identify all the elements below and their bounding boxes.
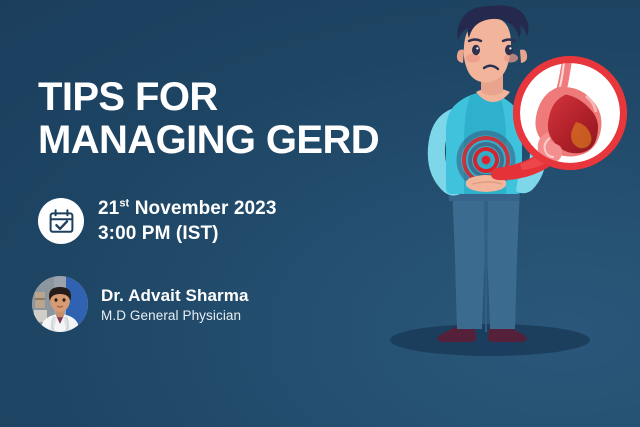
schedule-time: 3:00 PM (IST) <box>98 221 277 246</box>
blue-trousers <box>448 182 520 332</box>
schedule-text: 21st November 2023 3:00 PM (IST) <box>98 196 277 247</box>
man-with-stomach-pain-illustration <box>380 0 640 427</box>
stomach-magnifier-circle <box>513 56 627 170</box>
speaker-block: Dr. Advait Sharma M.D General Physician <box>32 276 249 332</box>
schedule-day: 21 <box>98 198 119 219</box>
speaker-text: Dr. Advait Sharma M.D General Physician <box>101 284 249 325</box>
doctor-portrait-photo <box>32 276 88 332</box>
illustration-svg <box>380 0 640 427</box>
headline-block: TIPS FOR MANAGING GERD <box>38 76 408 162</box>
avatar <box>32 276 88 332</box>
schedule-date: 21st November 2023 <box>98 196 277 221</box>
page-title: TIPS FOR MANAGING GERD <box>38 76 408 162</box>
calendar-check-glyph <box>48 208 75 235</box>
schedule-month-year: November 2023 <box>135 198 277 219</box>
speaker-name: Dr. Advait Sharma <box>101 285 249 306</box>
head <box>457 5 529 82</box>
calendar-check-icon <box>38 198 84 244</box>
webinar-banner: TIPS FOR MANAGING GERD 21st November 202… <box>0 0 640 427</box>
schedule-block: 21st November 2023 3:00 PM (IST) <box>38 196 277 247</box>
speaker-credentials: M.D General Physician <box>101 307 249 325</box>
schedule-day-suffix: st <box>119 198 129 210</box>
